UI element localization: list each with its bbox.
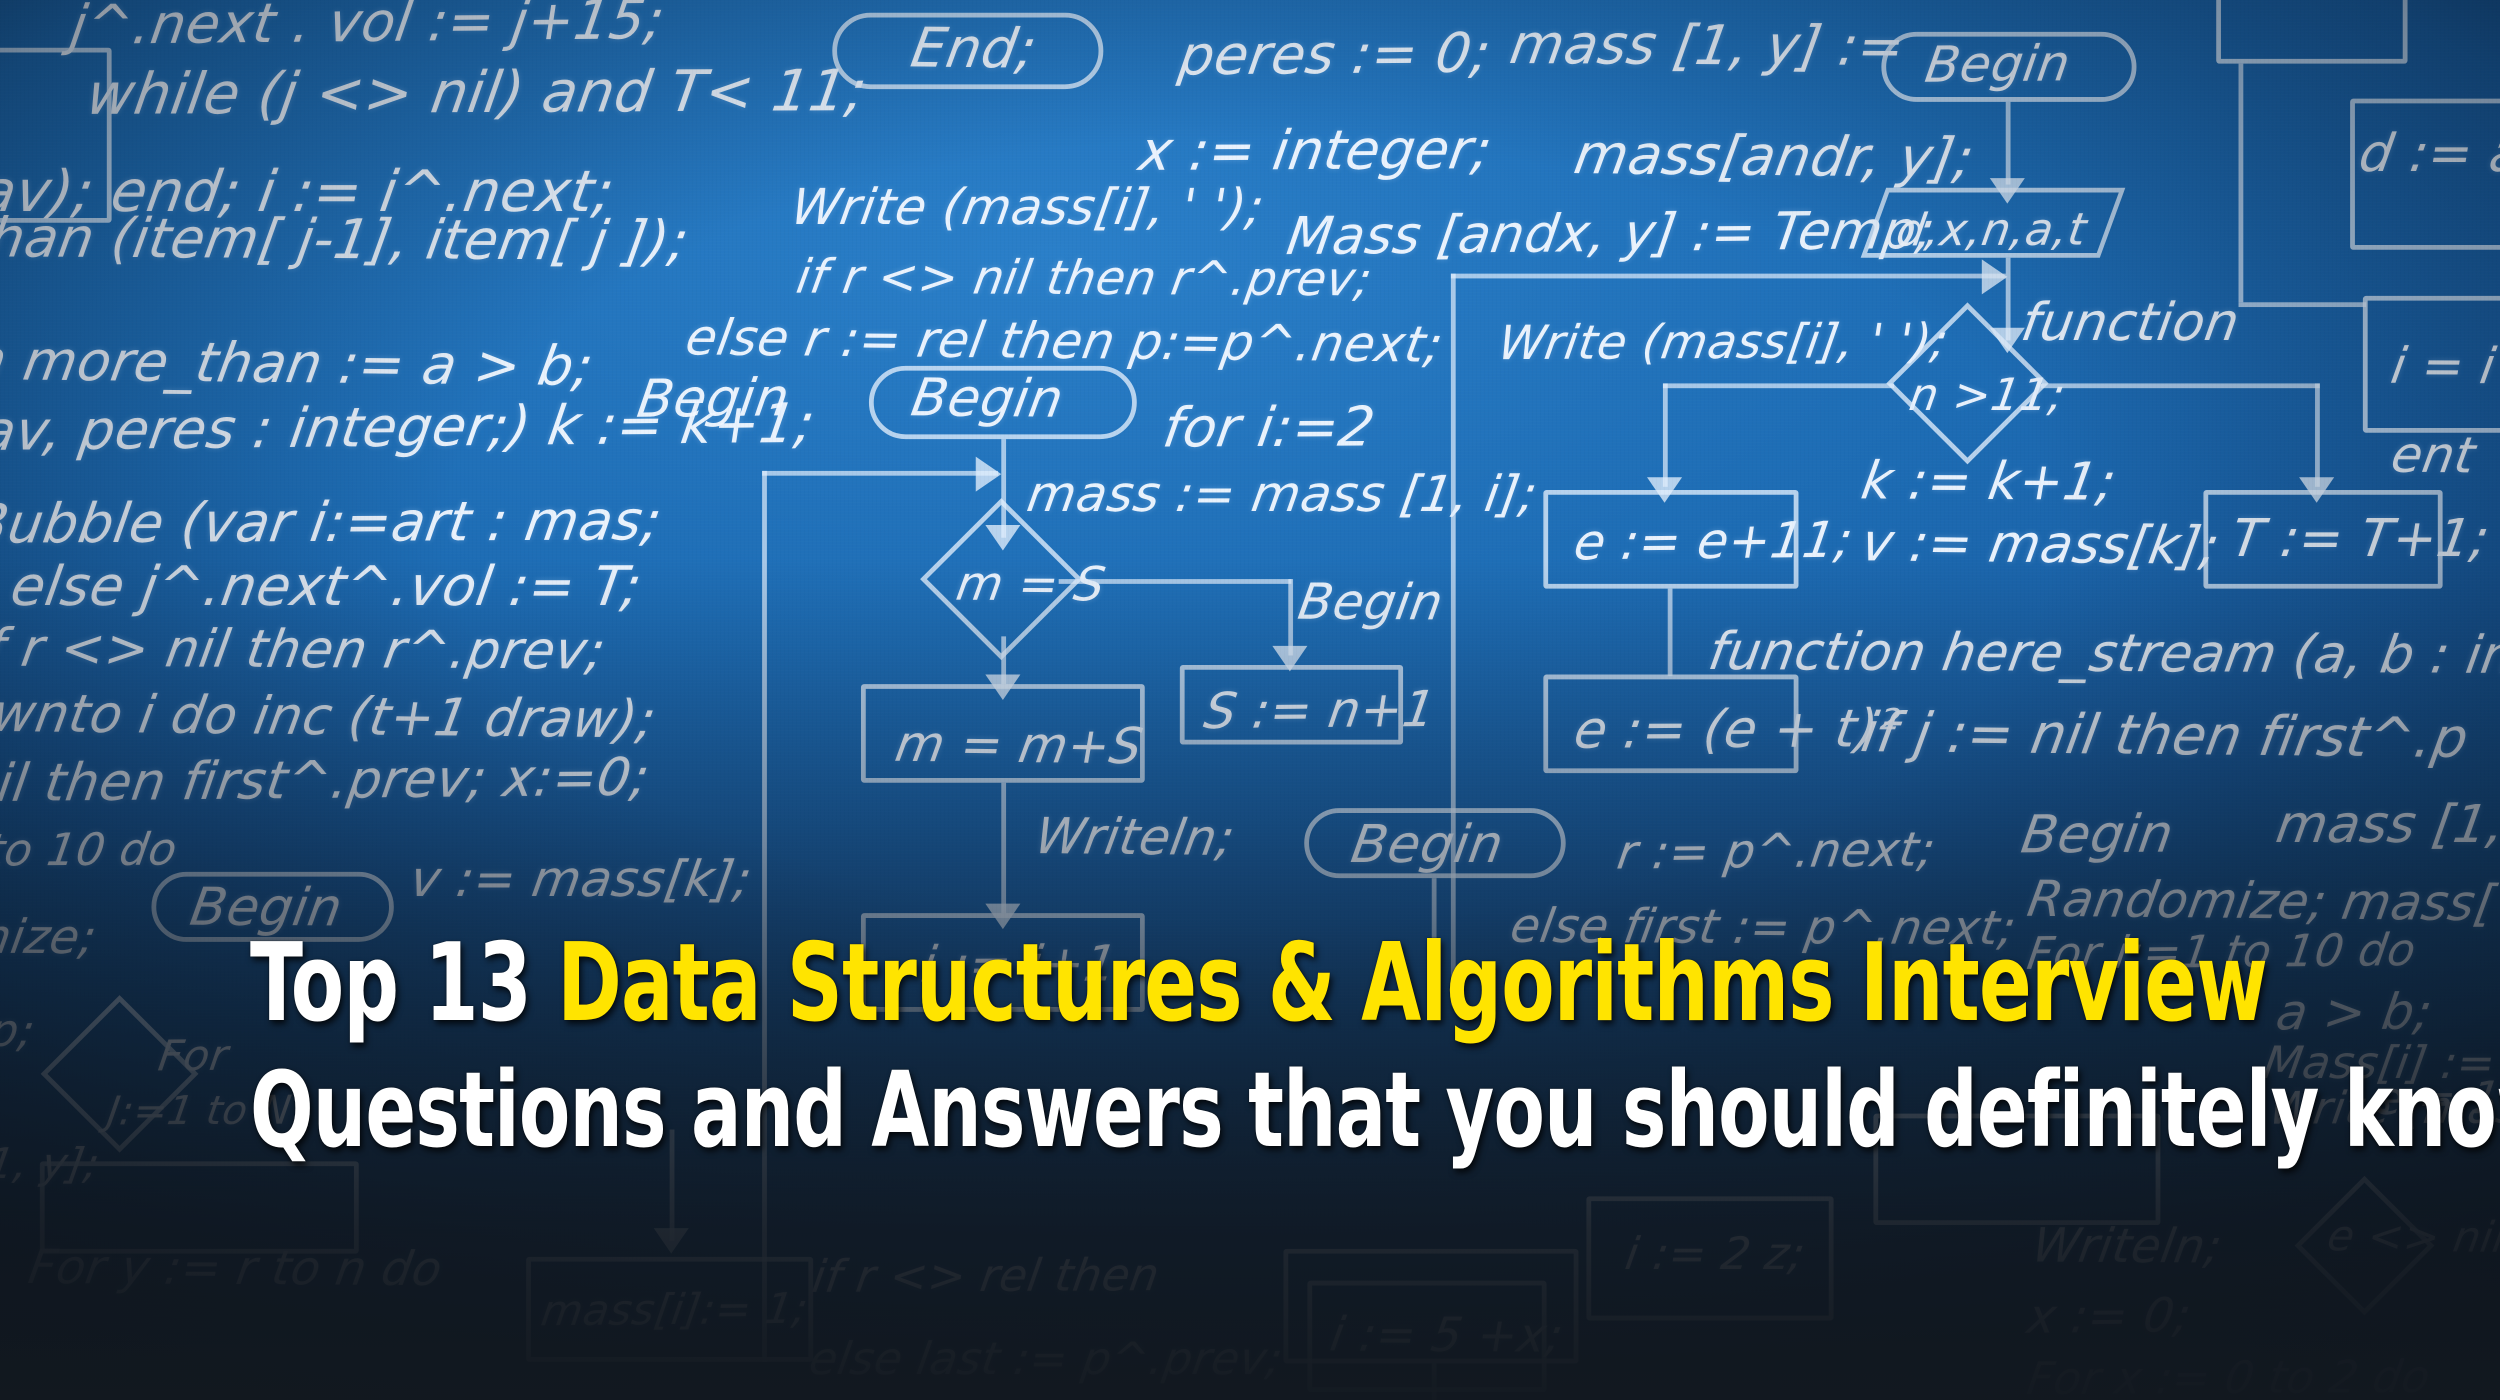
flow-arrow bbox=[1001, 783, 1006, 913]
flow-box bbox=[1586, 1196, 1833, 1320]
flow-arrow bbox=[2239, 302, 2367, 307]
flow-arrowhead bbox=[654, 1228, 689, 1253]
flow-terminator-begin-1 bbox=[1881, 32, 2136, 102]
flow-box bbox=[2350, 99, 2500, 250]
flow-box bbox=[526, 1257, 813, 1362]
flow-box-m-sum bbox=[861, 684, 1145, 783]
flow-arrow bbox=[762, 471, 767, 1362]
flow-box-t-increment bbox=[2203, 490, 2442, 589]
flow-terminator-begin-3 bbox=[1304, 808, 1565, 878]
flow-arrow bbox=[1668, 589, 1673, 677]
flow-box bbox=[1307, 1281, 1546, 1392]
headline-prefix: Top 13 bbox=[250, 921, 557, 1046]
flow-box bbox=[40, 1161, 359, 1253]
flow-arrowhead bbox=[1982, 259, 2008, 294]
flow-decision bbox=[2295, 1176, 2435, 1315]
flow-arrow bbox=[2041, 383, 2320, 388]
headline-line-1: Top 13 Data Structures & Algorithms Inte… bbox=[250, 930, 2250, 1038]
headline-highlight: Data Structures & Algorithms Interview bbox=[557, 921, 2267, 1046]
flow-box-s-assign bbox=[1180, 665, 1403, 745]
flow-rail bbox=[1451, 274, 2006, 279]
flow-arrowhead bbox=[1272, 646, 1307, 671]
flow-arrow bbox=[2239, 64, 2244, 303]
flow-decision-n11 bbox=[1886, 302, 2048, 464]
flow-box-e-increment bbox=[1543, 490, 1798, 589]
flow-terminator-begin-2 bbox=[869, 366, 1137, 439]
flowchart-shapes-layer bbox=[0, 0, 2500, 1400]
flow-arrow bbox=[1663, 383, 1668, 486]
flow-box-e-square bbox=[1543, 675, 1798, 774]
flow-arrow bbox=[1288, 579, 1293, 655]
headline-line-2: Questions and Answers that you should de… bbox=[250, 1058, 2250, 1162]
flow-box bbox=[2216, 0, 2407, 64]
flow-terminator-end bbox=[832, 13, 1103, 89]
poster-canvas: j^.next . vol := j+15;while (j <> nil) a… bbox=[0, 0, 2500, 1400]
flow-arrowhead bbox=[976, 457, 1002, 492]
flow-arrow bbox=[1663, 383, 1894, 388]
flow-arrow bbox=[2315, 383, 2320, 486]
flow-arrow bbox=[762, 471, 998, 476]
flow-arrow bbox=[1059, 579, 1292, 584]
flow-rail bbox=[1451, 274, 1456, 1006]
flow-box bbox=[2363, 296, 2500, 433]
headline-block: Top 13 Data Structures & Algorithms Inte… bbox=[0, 930, 2500, 1162]
flow-box bbox=[0, 48, 112, 223]
flow-arrow bbox=[2006, 102, 2011, 185]
flow-io-parallelogram bbox=[1861, 188, 2126, 258]
